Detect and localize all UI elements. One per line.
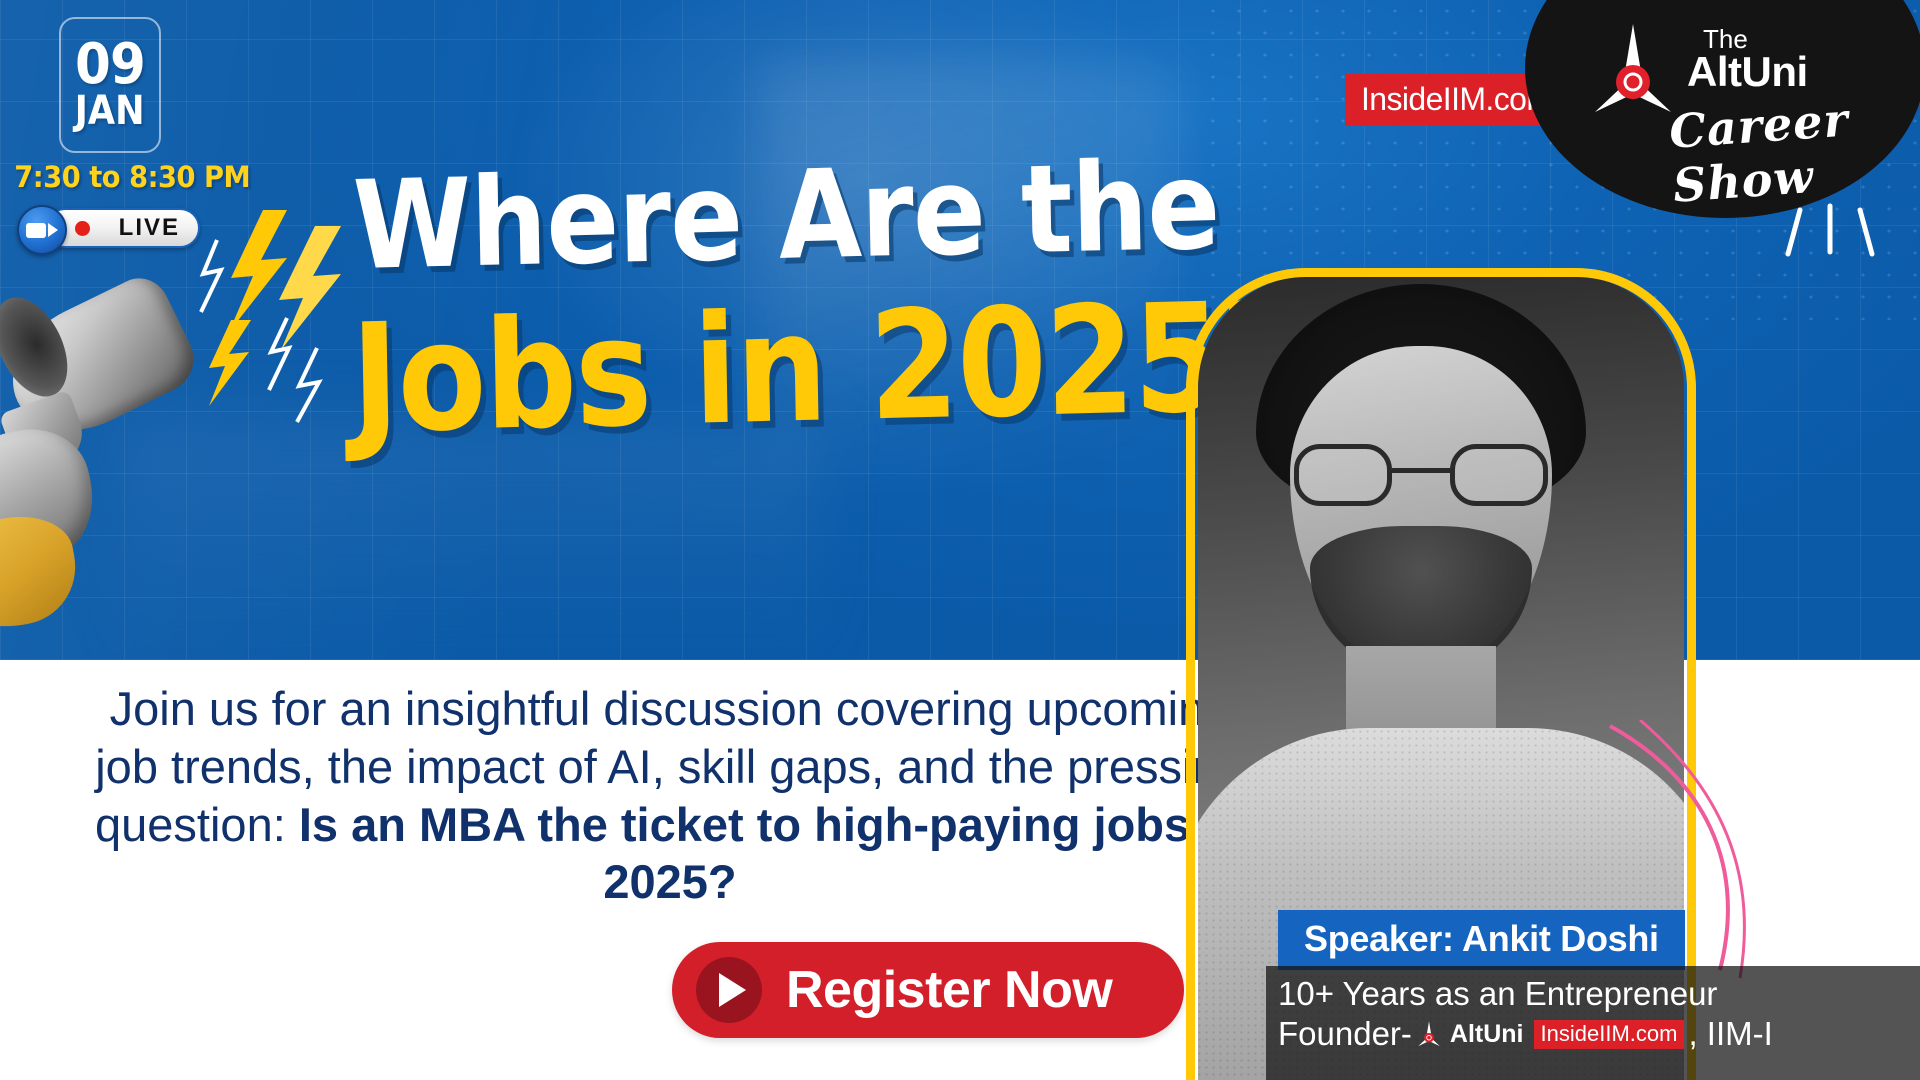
sparkle-lines-icon — [1772, 200, 1892, 310]
description-bold: Is an MBA the ticket to high-paying jobs… — [299, 798, 1245, 909]
speaker-credentials: 10+ Years as an Entrepreneur Founder- Al… — [1266, 966, 1920, 1080]
event-date-day: 09 — [75, 39, 145, 91]
speaker-credential-line-1: 10+ Years as an Entrepreneur — [1278, 974, 1920, 1014]
play-icon — [696, 957, 762, 1023]
altuni-mini-trident-icon — [1416, 1020, 1442, 1048]
speaker-name-bar: Speaker: Ankit Doshi — [1278, 910, 1685, 970]
altuni-logo-inner: The AltUni Career Show — [1525, 0, 1920, 218]
speaker-iim-suffix: , IIM-I — [1688, 1014, 1772, 1054]
insideiim-logo-label: InsideIIM.com — [1361, 83, 1552, 115]
event-time: 7:30 to 8:30 PM — [14, 160, 211, 194]
headline-line-2: Jobs in 2025? — [350, 282, 1296, 455]
live-record-dot-icon — [75, 221, 90, 236]
live-label: LIVE — [119, 214, 180, 242]
video-camera-icon — [17, 205, 67, 255]
speaker-credential-line-2: Founder- AltUni InsideIIM.com , IIM-I — [1278, 1014, 1920, 1054]
register-now-button[interactable]: Register Now — [672, 942, 1184, 1038]
camera-body-shape — [26, 223, 46, 238]
speaker-insideiim-label: InsideIIM.com — [1534, 1020, 1685, 1049]
event-date-month: JAN — [75, 91, 145, 131]
event-date-card: 09 JAN — [59, 17, 161, 153]
altuni-trident-icon — [1587, 20, 1679, 118]
altuni-career-show-label: Career Show — [1668, 87, 1920, 212]
altuni-career-show-logo[interactable]: The AltUni Career Show — [1525, 0, 1920, 218]
play-triangle-shape — [719, 973, 746, 1007]
speaker-name-label: Speaker: Ankit Doshi — [1304, 918, 1659, 959]
speaker-altuni-label: AltUni — [1450, 1019, 1524, 1050]
register-now-label: Register Now — [786, 960, 1112, 1020]
description-text: Join us for an insightful discussion cov… — [90, 680, 1250, 911]
live-pill: LIVE — [45, 208, 200, 248]
headline-line-1: Where Are the — [352, 144, 1220, 287]
webinar-promo-banner: 09 JAN 7:30 to 8:30 PM LIVE Where Are th… — [0, 0, 1920, 1080]
camera-lens-shape — [48, 223, 58, 237]
altuni-name-label: AltUni — [1687, 48, 1808, 96]
speaker-founder-prefix: Founder- — [1278, 1014, 1412, 1054]
